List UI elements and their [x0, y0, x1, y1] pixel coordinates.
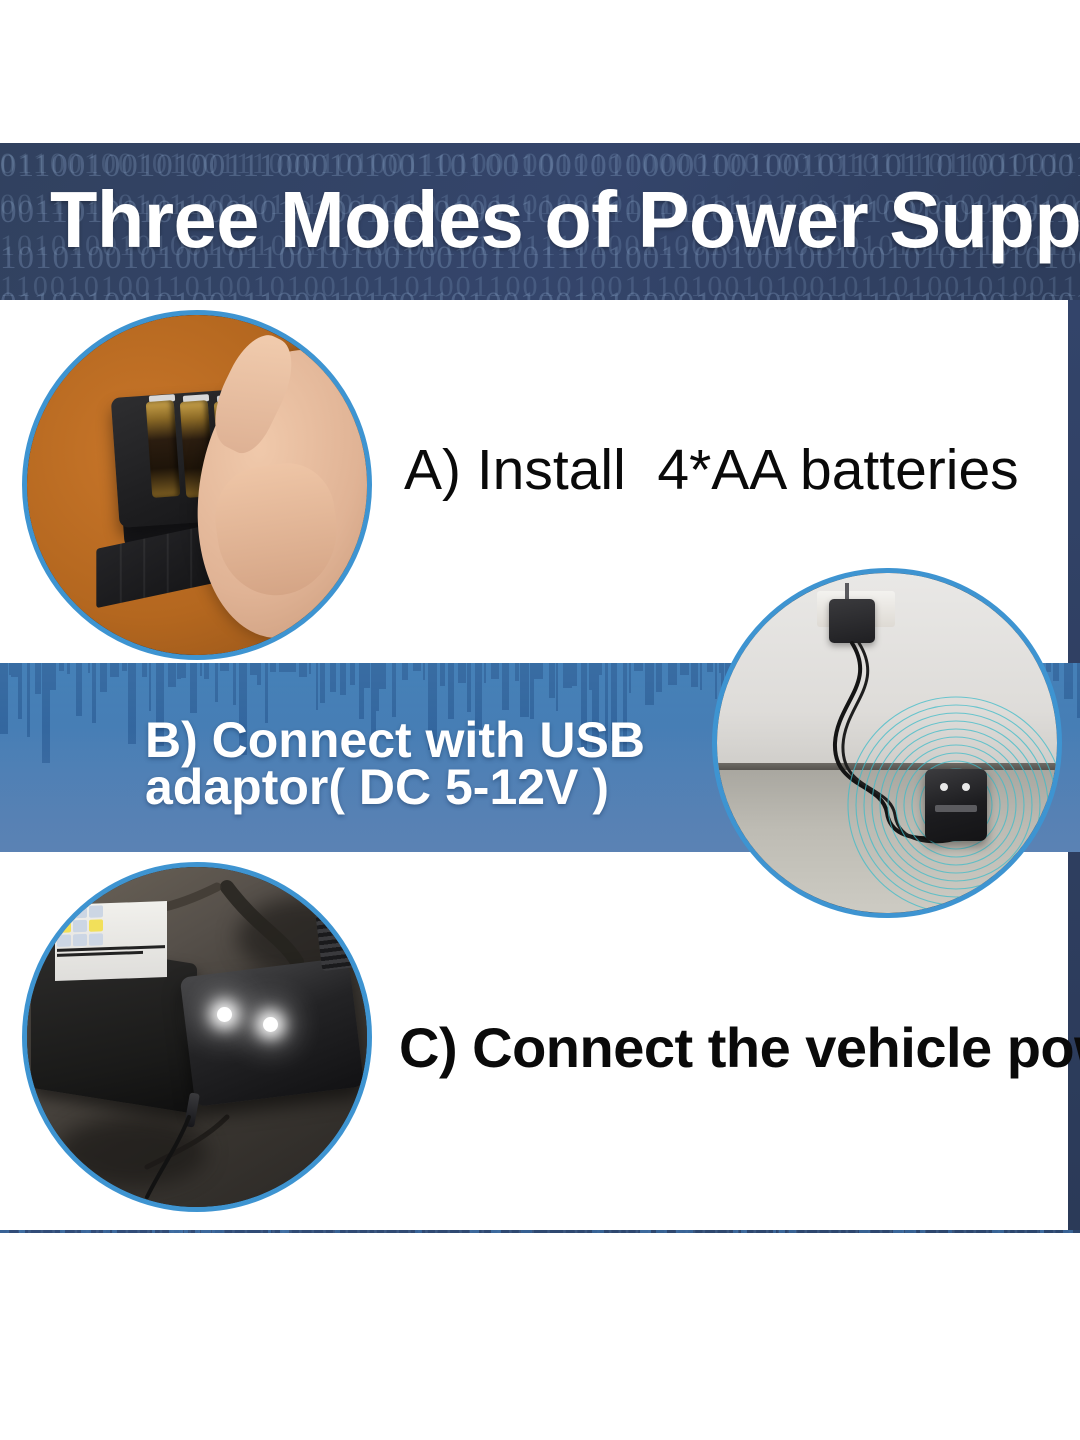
alarm-device — [925, 769, 987, 841]
vehicle-scene — [27, 867, 367, 1207]
battery-scene — [27, 315, 367, 655]
vehicle-power-photo — [22, 862, 372, 1212]
battery-compartment-photo — [22, 310, 372, 660]
step-a-label: A) Install 4*AA batteries — [404, 437, 1019, 503]
step-c-label: C) Connect the vehicle power — [399, 1015, 1080, 1080]
step-b-label: B) Connect with USB adaptor( DC 5-12V ) — [145, 717, 645, 811]
device-led-left — [940, 783, 948, 791]
usb-adaptor-scene — [717, 573, 1057, 913]
signal-waves — [717, 573, 1057, 913]
device-speaker-grille — [935, 805, 977, 812]
device-led-right — [962, 783, 970, 791]
header-bar: 0110010010100111000101001101001001010000… — [0, 143, 1080, 300]
device-power-cable — [27, 867, 367, 1207]
page-title: Three Modes of Power Supply — [50, 167, 1030, 273]
usb-adaptor-photo — [712, 568, 1062, 918]
infographic-canvas: 0110010010100111000101001101001001010100… — [0, 0, 1080, 1440]
